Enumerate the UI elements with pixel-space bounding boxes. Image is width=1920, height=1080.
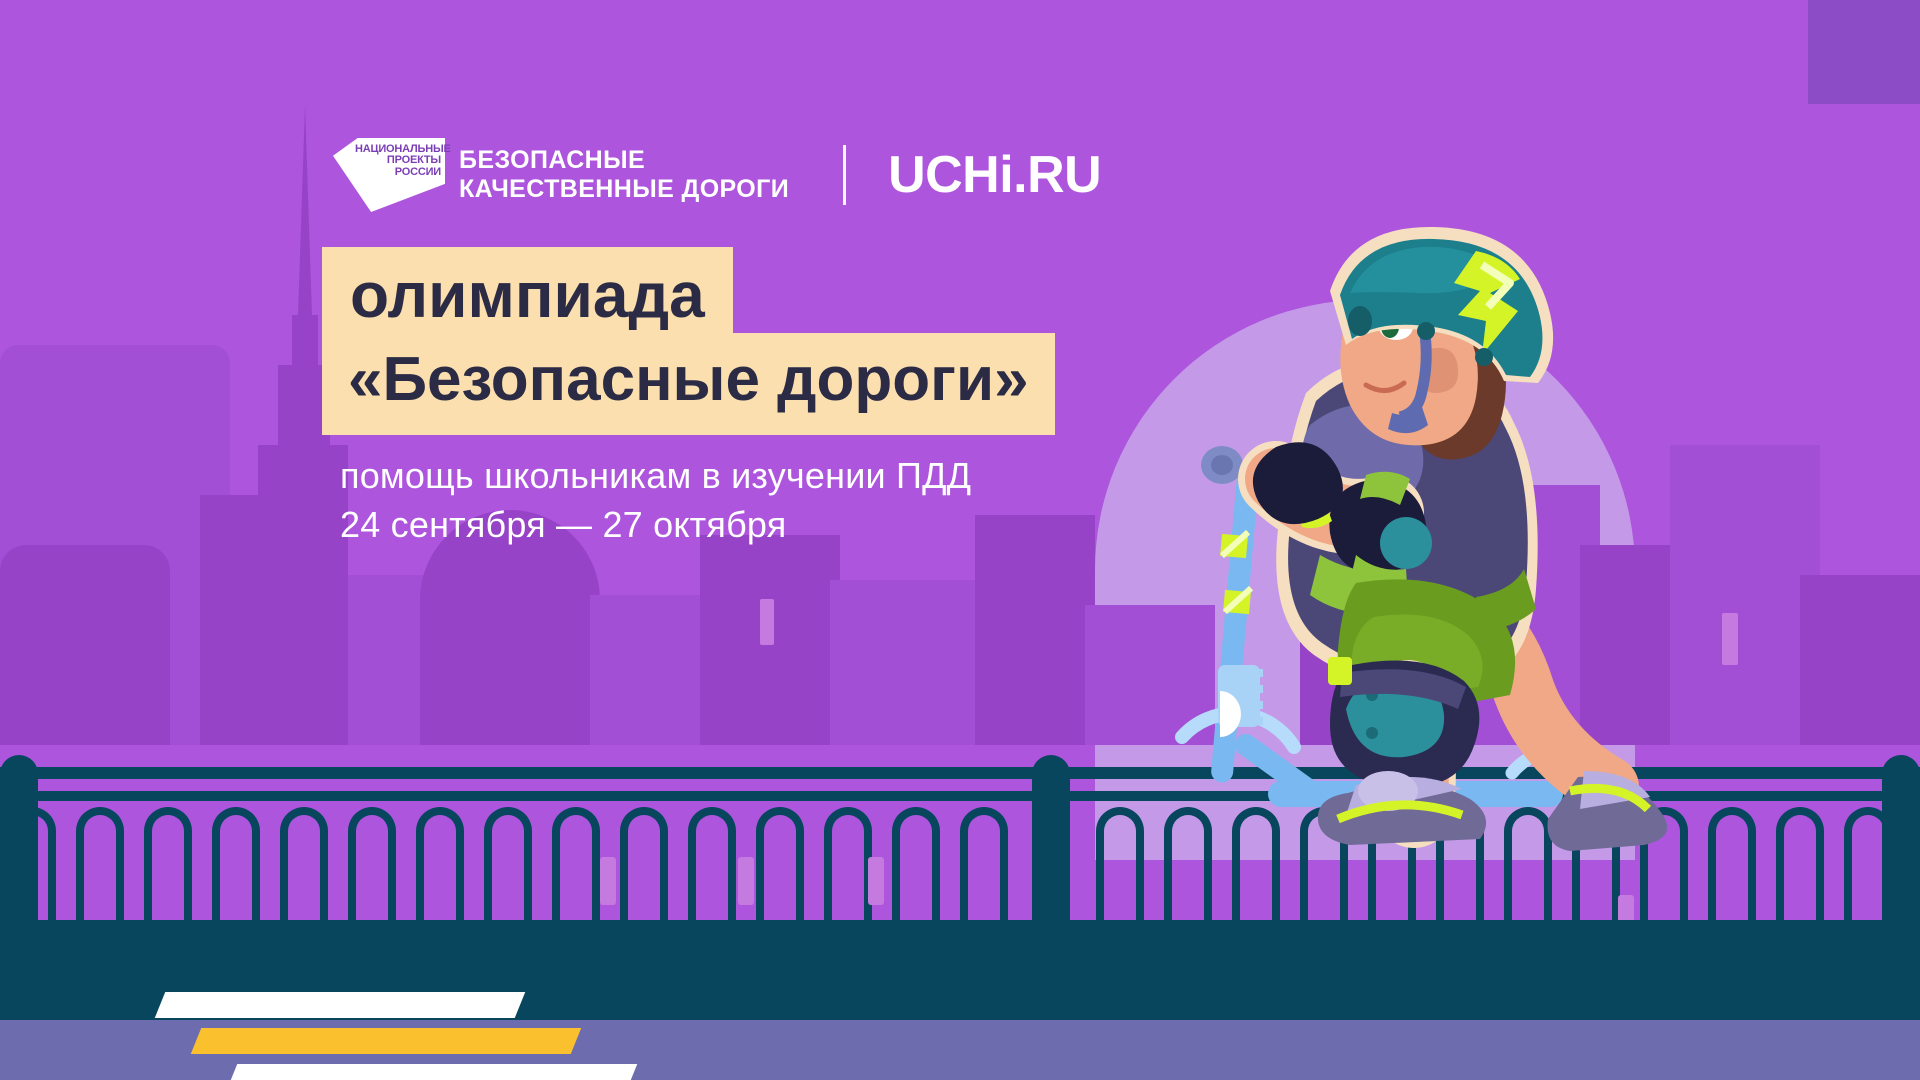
knee-pad [1328, 657, 1479, 788]
rail-post [1882, 755, 1920, 925]
building [975, 515, 1095, 745]
corner-accent-block [1808, 0, 1920, 104]
baluster [144, 807, 192, 925]
crosswalk-stripe-white [227, 1064, 638, 1080]
baluster [824, 807, 872, 925]
program-line-2: КАЧЕСТВЕННЫЕ ДОРОГИ [459, 175, 789, 204]
rail-post [0, 755, 38, 925]
national-projects-logo: НАЦИОНАЛЬНЫЕ ПРОЕКТЫ РОССИИ [333, 138, 445, 212]
baluster [348, 807, 396, 925]
landmark-tower-tier [292, 315, 318, 745]
baluster [688, 807, 736, 925]
baluster [1776, 807, 1824, 925]
landmark-spire [298, 105, 312, 315]
building [1800, 575, 1920, 745]
np-line-3: РОССИИ [355, 167, 441, 178]
baluster-window [738, 857, 754, 905]
baluster [76, 807, 124, 925]
baluster [552, 807, 600, 925]
program-name: БЕЗОПАСНЫЕ КАЧЕСТВЕННЫЕ ДОРОГИ [459, 146, 789, 204]
baluster [212, 807, 260, 925]
subtitle-line-1: помощь школьникам в изучении ПДД [340, 452, 971, 501]
illustration-boy-on-scooter [1160, 225, 1720, 965]
building-window [760, 599, 774, 645]
program-line-1: БЕЗОПАСНЫЕ [459, 146, 789, 175]
building [0, 545, 170, 745]
scooter-headlight [1218, 665, 1263, 737]
baluster [892, 807, 940, 925]
promo-banner: НАЦИОНАЛЬНЫЕ ПРОЕКТЫ РОССИИ БЕЗОПАСНЫЕ К… [0, 0, 1920, 1080]
baluster [280, 807, 328, 925]
baluster [620, 807, 668, 925]
subtitle: помощь школьникам в изучении ПДД 24 сент… [340, 452, 971, 550]
crosswalk-stripe-yellow [191, 1028, 582, 1054]
baluster [484, 807, 532, 925]
road-surface [0, 1020, 1920, 1080]
header-logos: НАЦИОНАЛЬНЫЕ ПРОЕКТЫ РОССИИ БЕЗОПАСНЫЕ К… [333, 138, 1101, 212]
baluster [960, 807, 1008, 925]
rail-post [1032, 755, 1070, 925]
baluster-window [600, 857, 616, 905]
baluster-window [868, 857, 884, 905]
baluster [1096, 807, 1144, 925]
logo-divider [843, 145, 846, 205]
crosswalk-stripe-white [155, 992, 526, 1018]
building-window [1722, 613, 1738, 665]
national-projects-text: НАЦИОНАЛЬНЫЕ ПРОЕКТЫ РОССИИ [355, 144, 441, 178]
subtitle-line-2: 24 сентября — 27 октября [340, 501, 971, 550]
baluster [756, 807, 804, 925]
page-title-line-2: «Безопасные дороги» [322, 333, 1055, 435]
baluster [416, 807, 464, 925]
uchi-ru-logo: UCHi.RU [888, 145, 1101, 205]
